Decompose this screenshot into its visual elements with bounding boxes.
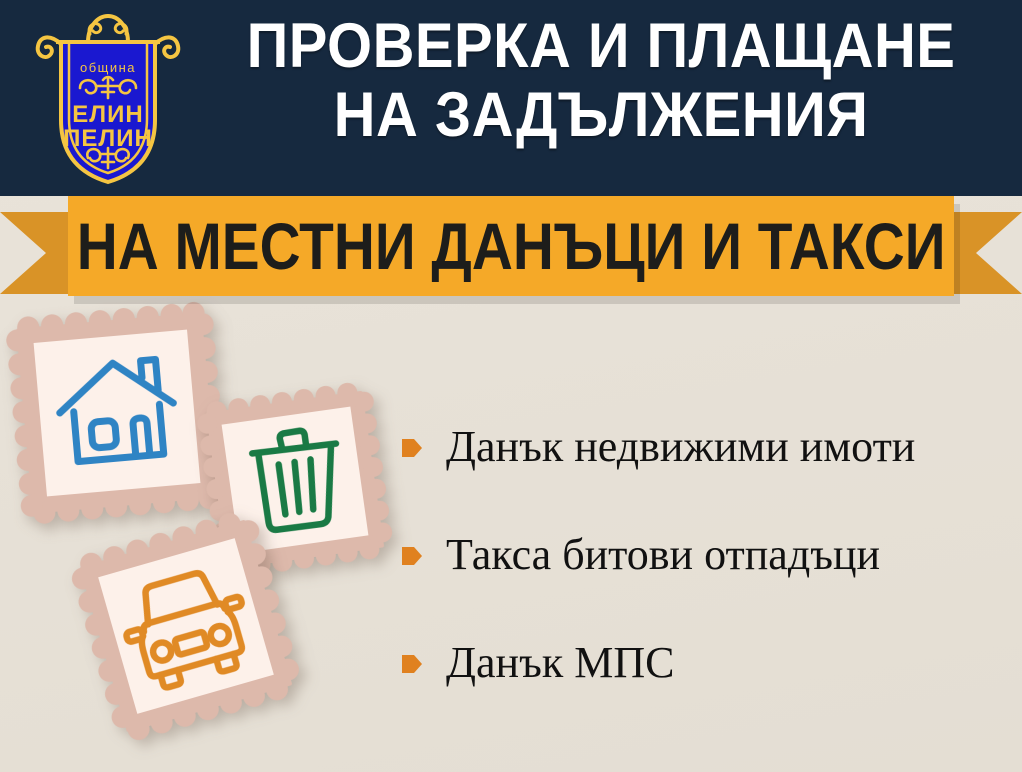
title-line-1: ПРОВЕРКА И ПЛАЩАНЕ	[228, 16, 973, 77]
list-item[interactable]: Данък недвижими имоти	[400, 420, 1010, 474]
pentagon-arrow-bullet-icon	[400, 543, 424, 569]
subtitle-ribbon: НА МЕСТНИ ДАНЪЦИ И ТАКСИ	[0, 196, 1022, 308]
list-item[interactable]: Данък МПС	[400, 636, 1010, 690]
pentagon-arrow-bullet-icon	[400, 651, 424, 677]
list-item[interactable]: Такса битови отпадъци	[400, 528, 1010, 582]
poster-root: община ЕЛИН ПЕЛИН	[0, 0, 1022, 772]
list-item-label: Такса битови отпадъци	[446, 533, 880, 577]
ribbon-band: НА МЕСТНИ ДАНЪЦИ И ТАКСИ	[68, 196, 954, 296]
list-item-label: Данък недвижими имоти	[446, 425, 915, 469]
coat-of-arms-icon: община ЕЛИН ПЕЛИН	[28, 8, 188, 188]
title-line-2: НА ЗАДЪЛЖЕНИЯ	[228, 85, 973, 146]
header-bar: община ЕЛИН ПЕЛИН	[0, 0, 1022, 196]
crest-text-elin: ЕЛИН	[72, 101, 143, 128]
list-item-label: Данък МПС	[446, 641, 674, 685]
stamp-collage	[0, 300, 430, 772]
crest-text-obshtina: община	[80, 60, 136, 75]
pentagon-arrow-bullet-icon	[400, 435, 424, 461]
poster-title: ПРОВЕРКА И ПЛАЩАНЕ НА ЗАДЪЛЖЕНИЯ	[196, 16, 1006, 146]
tax-type-list: Данък недвижими имоти Такса битови отпад…	[400, 420, 1010, 690]
municipality-crest: община ЕЛИН ПЕЛИН	[28, 8, 188, 188]
ribbon-label: НА МЕСТНИ ДАНЪЦИ И ТАКСИ	[77, 208, 946, 284]
